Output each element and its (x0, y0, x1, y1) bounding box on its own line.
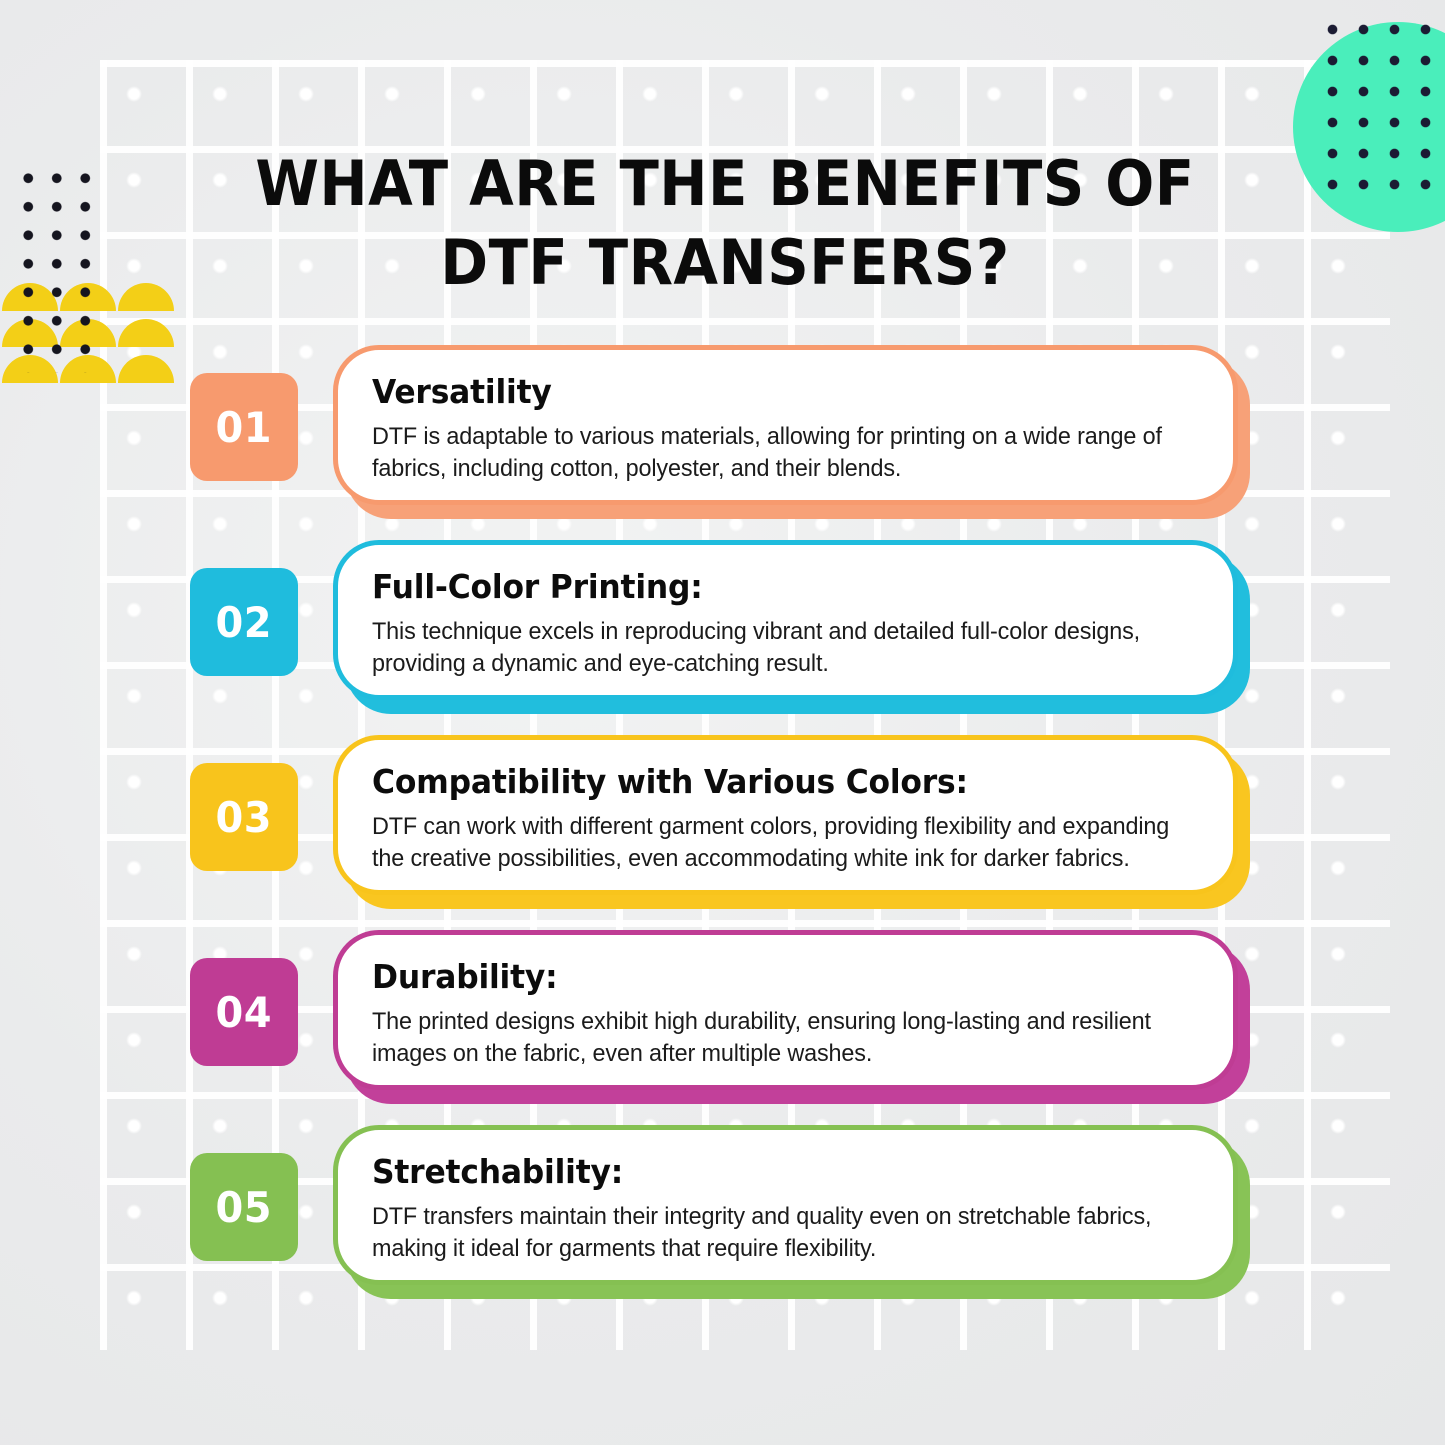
benefit-card[interactable]: Compatibility with Various Colors:DTF ca… (333, 735, 1238, 895)
benefit-card[interactable]: Stretchability:DTF transfers maintain th… (333, 1125, 1238, 1285)
benefit-card[interactable]: Durability:The printed designs exhibit h… (333, 930, 1238, 1090)
dome-shape (118, 355, 174, 383)
benefit-card-title: Durability: (372, 957, 1158, 997)
benefit-number-badge: 04 (190, 958, 298, 1066)
dome-shape (60, 319, 116, 347)
benefit-card[interactable]: VersatilityDTF is adaptable to various m… (333, 345, 1238, 505)
dome-row (0, 319, 159, 347)
benefit-row: 04Durability:The printed designs exhibit… (185, 930, 1275, 1125)
benefits-list: 01VersatilityDTF is adaptable to various… (185, 345, 1275, 1320)
benefit-number-badge: 05 (190, 1153, 298, 1261)
dome-row (0, 355, 159, 383)
dome-shape (2, 319, 58, 347)
benefit-card-title: Full-Color Printing: (372, 567, 1158, 607)
yellow-dome-pattern-decoration (0, 283, 159, 391)
benefit-number-badge: 02 (190, 568, 298, 676)
benefit-row: 03Compatibility with Various Colors:DTF … (185, 735, 1275, 930)
benefit-number-badge: 01 (190, 373, 298, 481)
benefit-row: 01VersatilityDTF is adaptable to various… (185, 345, 1275, 540)
benefit-card-title: Stretchability: (372, 1152, 1158, 1192)
dome-shape (2, 283, 58, 311)
benefit-number: 01 (216, 403, 272, 452)
dome-shape (2, 355, 58, 383)
dome-shape (60, 355, 116, 383)
benefit-card-body: DTF can work with different garment colo… (372, 811, 1185, 875)
dot-grid-topright-decoration (1315, 4, 1439, 192)
page-title: WHAT ARE THE BENEFITS OF DTF TRANSFERS? (218, 144, 1232, 302)
benefit-card-body: This technique excels in reproducing vib… (372, 616, 1185, 680)
benefit-number: 04 (216, 988, 272, 1037)
benefit-card-body: DTF is adaptable to various materials, a… (372, 421, 1185, 485)
dome-shape (118, 319, 174, 347)
infographic-canvas: WHAT ARE THE BENEFITS OF DTF TRANSFERS? … (0, 0, 1445, 1445)
dot-grid-left-decoration (8, 158, 98, 373)
benefit-number: 03 (216, 793, 272, 842)
benefit-row: 02Full-Color Printing:This technique exc… (185, 540, 1275, 735)
benefit-number: 05 (216, 1183, 272, 1232)
dome-shape (60, 283, 116, 311)
dome-row (0, 283, 159, 311)
benefit-card-title: Compatibility with Various Colors: (372, 762, 1158, 802)
benefit-row: 05Stretchability:DTF transfers maintain … (185, 1125, 1275, 1320)
benefit-number-badge: 03 (190, 763, 298, 871)
benefit-card-title: Versatility (372, 372, 1158, 412)
benefit-card-body: The printed designs exhibit high durabil… (372, 1006, 1185, 1070)
benefit-card[interactable]: Full-Color Printing:This technique excel… (333, 540, 1238, 700)
benefit-number: 02 (216, 598, 272, 647)
benefit-card-body: DTF transfers maintain their integrity a… (372, 1201, 1185, 1265)
dome-shape (118, 283, 174, 311)
mint-circle-decoration (1293, 22, 1445, 232)
